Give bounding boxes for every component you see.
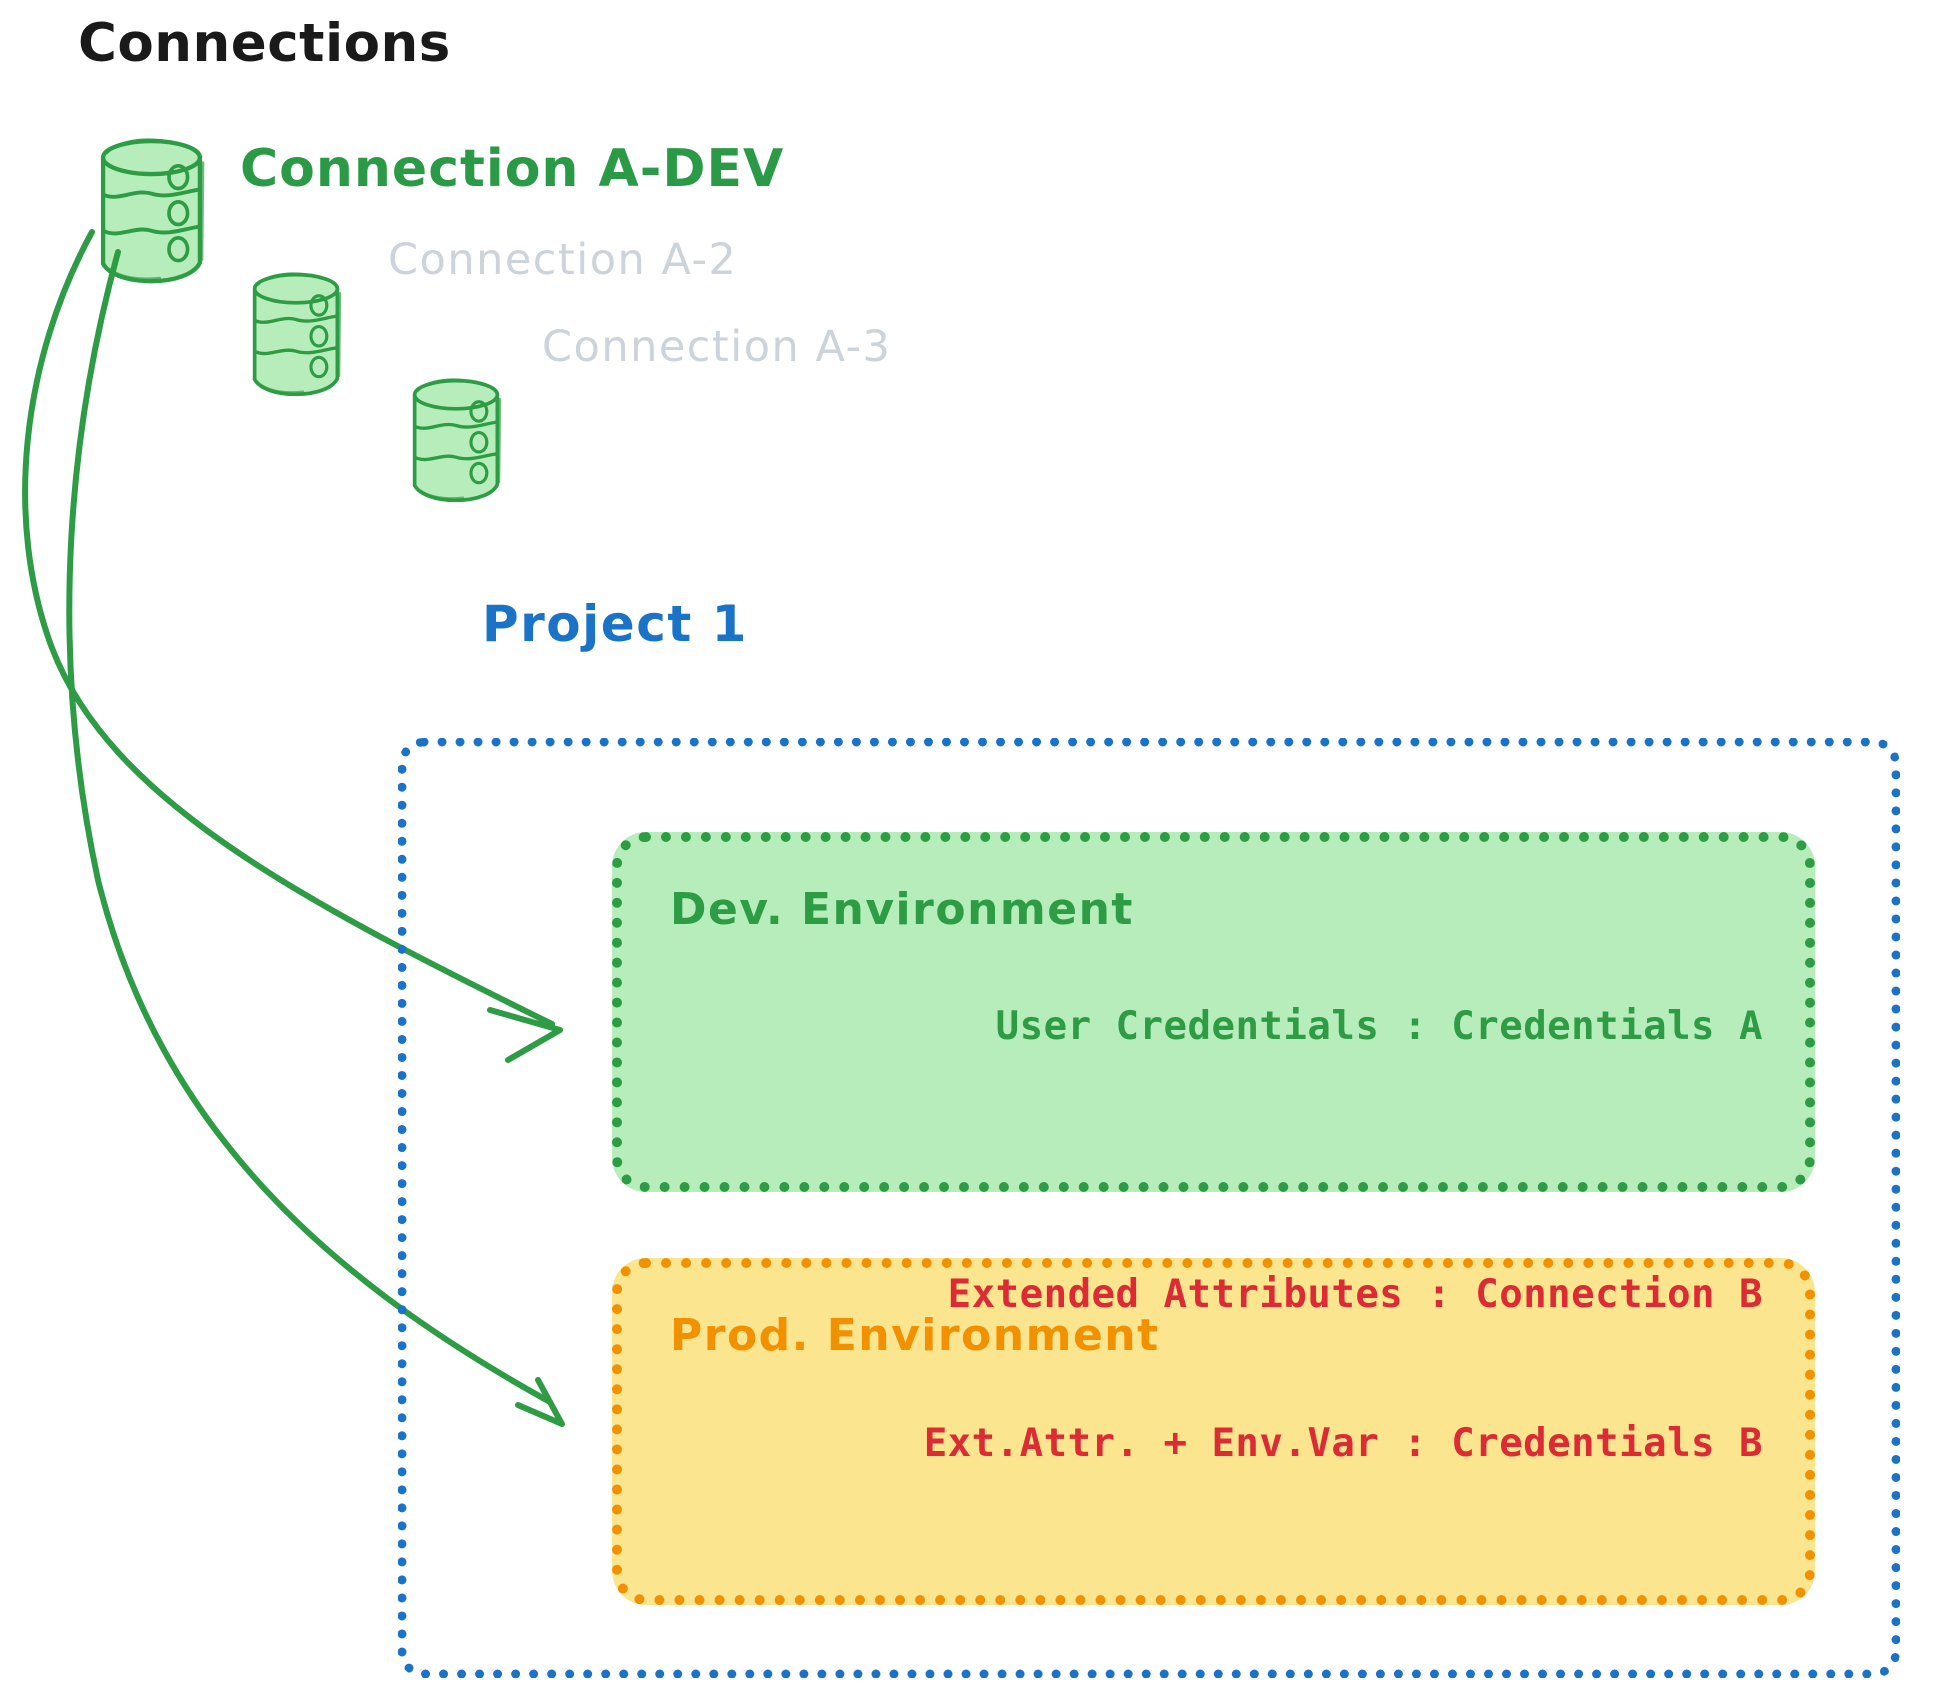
database-cylinder-icon[interactable] — [102, 140, 203, 282]
database-cylinder-icon[interactable] — [414, 380, 500, 502]
environment-detail-line: User Credentials : Credentials A — [996, 1002, 1763, 1052]
connection-label-a-2[interactable]: Connection A-2 — [388, 238, 737, 283]
environment-details-dev: User Credentials : Credentials A — [996, 902, 1763, 1152]
page-title: Connections — [78, 16, 451, 72]
database-cylinder-icon[interactable] — [254, 274, 340, 396]
environment-card-dev[interactable]: Dev. Environment User Credentials : Cred… — [612, 832, 1815, 1192]
connection-label-a-3[interactable]: Connection A-3 — [542, 325, 891, 370]
project-title: Project 1 — [482, 598, 748, 651]
diagram-canvas: Connections Connection A-DEV Connection … — [0, 0, 1938, 1691]
environment-detail-line: Extended Attributes : Connection B — [924, 1270, 1763, 1320]
environment-card-prod[interactable]: Prod. Environment Extended Attributes : … — [612, 1258, 1815, 1605]
connection-label-a-dev[interactable]: Connection A-DEV — [240, 142, 784, 197]
environment-details-prod: Extended Attributes : Connection B Ext.A… — [924, 1170, 1763, 1569]
environment-detail-line: Ext.Attr. + Env.Var : Credentials B — [924, 1419, 1763, 1469]
